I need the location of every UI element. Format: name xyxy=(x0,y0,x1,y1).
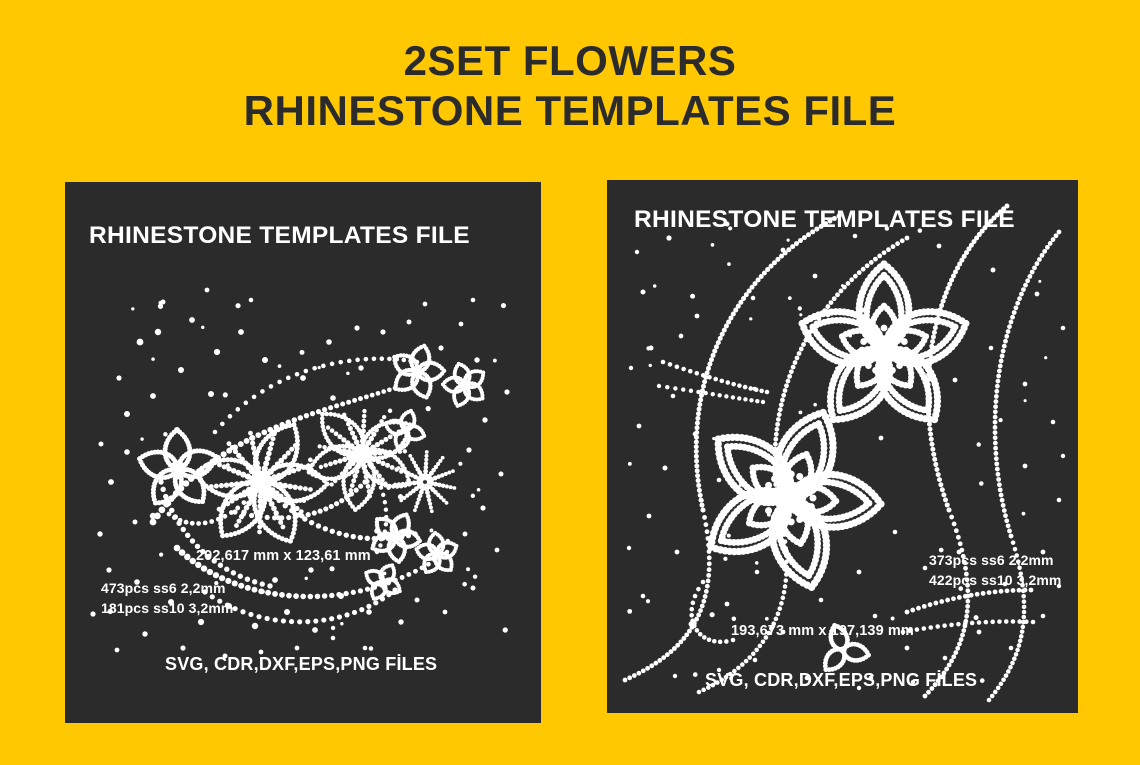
panel-left-dimensions: 202,617 mm x 123,61 mm xyxy=(196,548,371,564)
panel-left-stone-count-ss10: 181pcs ss10 3,2mm xyxy=(101,600,233,616)
panel-left-heading: RHINESTONE TEMPLATES FILE xyxy=(89,222,470,250)
poster-title-line-2: RHINESTONE TEMPLATES FILE xyxy=(0,86,1140,136)
panel-left-file-formats: SVG, CDR,DXF,EPS,PNG FİLES xyxy=(165,654,437,675)
panel-right-file-formats: SVG, CDR,DXF,EPS,PNG FİLES xyxy=(705,670,977,691)
design-panel-right: RHINESTONE TEMPLATES FILE 373pcs ss6 2,2… xyxy=(607,180,1078,713)
poster-canvas: 2SET FLOWERS RHINESTONE TEMPLATES FILE R… xyxy=(0,0,1140,765)
panel-right-heading: RHINESTONE TEMPLATES FILE xyxy=(634,206,1015,234)
panel-right-stone-count-ss6: 373pcs ss6 2,2mm xyxy=(929,552,1054,568)
panel-left-stone-count-ss6: 473pcs ss6 2,2mm xyxy=(101,580,226,596)
panel-right-stone-count-ss10: 422pcs ss10 3,2mm xyxy=(929,572,1061,588)
poster-title-line-1: 2SET FLOWERS xyxy=(0,36,1140,86)
poster-header: 2SET FLOWERS RHINESTONE TEMPLATES FILE xyxy=(0,36,1140,135)
design-panel-left: RHINESTONE TEMPLATES FILE 202,617 mm x 1… xyxy=(65,182,541,723)
rhinestone-artwork-left xyxy=(65,182,541,723)
panel-right-dimensions: 193,673 mm x 197,139 mm xyxy=(731,623,914,639)
